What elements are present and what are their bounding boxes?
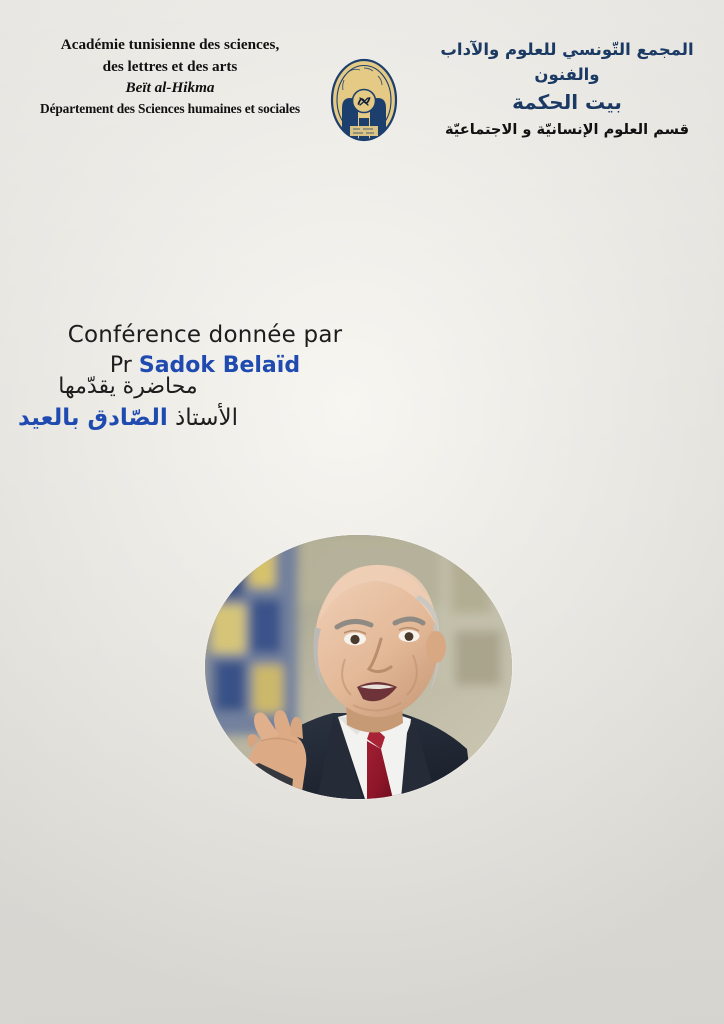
institution-arabic-line-1: المجمع التّونسي للعلوم والآداب والفنون <box>422 38 712 88</box>
institution-line-3: Beït al-Hikma <box>10 77 330 99</box>
conference-poster: Académie tunisienne des sciences, des le… <box>0 0 724 1024</box>
academy-seal-logo <box>330 58 398 142</box>
speaker-name-row-arabic: الأستاذ الصّادق بالعيد <box>0 405 288 431</box>
speaker-portrait-photo <box>205 535 512 799</box>
institution-name-arabic: المجمع التّونسي للعلوم والآداب والفنون ب… <box>422 38 712 140</box>
speaker-name-arabic: الصّادق بالعيد <box>18 405 168 431</box>
poster-header: Académie tunisienne des sciences, des le… <box>0 30 724 140</box>
institution-department-french: Département des Sciences humaines et soc… <box>10 99 330 118</box>
speaker-block-french: Conférence donnée par Pr Sadok Belaïd <box>30 322 380 378</box>
institution-line-1: Académie tunisienne des sciences, <box>10 34 330 56</box>
institution-arabic-line-2: بيت الحكمة <box>422 89 712 116</box>
institution-department-arabic: قسم العلوم الإنسانيّة و الاجتماعيّة <box>422 119 712 141</box>
speaker-intro-arabic: محاضرة يقدّمها <box>0 374 288 399</box>
speaker-intro-french: Conférence donnée par <box>30 322 380 348</box>
speaker-block-arabic: محاضرة يقدّمها الأستاذ الصّادق بالعيد <box>0 374 288 431</box>
institution-name-french: Académie tunisienne des sciences, des le… <box>10 34 330 118</box>
institution-line-2: des lettres et des arts <box>10 56 330 78</box>
speaker-title-arabic: الأستاذ <box>175 405 238 431</box>
